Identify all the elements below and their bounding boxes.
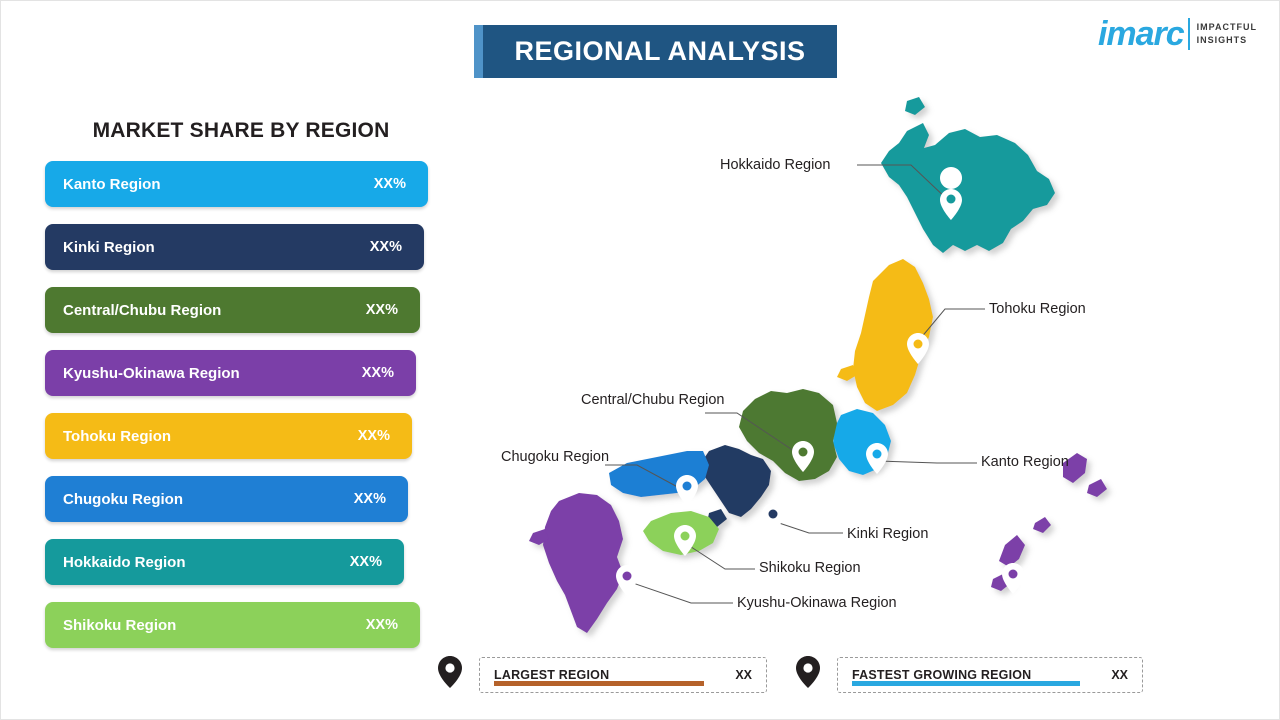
region-value: XX% [362, 365, 394, 381]
fastest-region-pin-icon [795, 655, 821, 689]
region-bar-tohoku[interactable]: Tohoku Region XX% [45, 413, 412, 459]
map-label-chugoku: Chugoku Region [501, 449, 609, 465]
fastest-region-value: XX [1111, 668, 1128, 682]
region-bar-kyushu-okinawa[interactable]: Kyushu-Okinawa Region XX% [45, 350, 416, 396]
brand-logo: imarc IMPACTFUL INSIGHTS [1098, 17, 1257, 51]
fastest-region-label: FASTEST GROWING REGION [852, 668, 1031, 682]
japan-map: Hokkaido Region Tohoku Region Central/Ch… [437, 93, 1267, 653]
region-label: Hokkaido Region [63, 554, 186, 571]
leader-kinki [773, 521, 843, 533]
map-label-central-chubu: Central/Chubu Region [581, 392, 724, 408]
region-bar-kanto[interactable]: Kanto Region XX% [45, 161, 428, 207]
slide-regional-analysis: REGIONAL ANALYSIS imarc IMPACTFUL INSIGH… [0, 0, 1280, 720]
map-region-okinawa-chain-3 [1033, 517, 1051, 533]
logo-tagline-line1: IMPACTFUL [1197, 21, 1257, 34]
leader-kanto [877, 461, 977, 463]
region-value: XX% [374, 176, 406, 192]
map-label-shikoku: Shikoku Region [759, 560, 861, 576]
largest-region-value: XX [735, 668, 752, 682]
map-region-kyushu[interactable] [543, 493, 623, 633]
region-label: Shikoku Region [63, 617, 176, 634]
pin-kyushu[interactable] [616, 565, 638, 596]
panel-heading: MARKET SHARE BY REGION [45, 119, 437, 143]
region-value: XX% [366, 617, 398, 633]
region-bar-kinki[interactable]: Kinki Region XX% [45, 224, 424, 270]
logo-tagline: IMPACTFUL INSIGHTS [1197, 21, 1257, 47]
pin-chugoku[interactable] [676, 475, 698, 506]
logo-divider [1188, 18, 1190, 50]
map-label-kanto: Kanto Region [981, 454, 1069, 470]
region-label: Kinki Region [63, 239, 155, 256]
pin-kinki[interactable] [762, 503, 784, 534]
map-label-kinki: Kinki Region [847, 526, 928, 542]
region-label: Central/Chubu Region [63, 302, 221, 319]
region-label: Tohoku Region [63, 428, 171, 445]
fastest-region-legend: FASTEST GROWING REGION XX [837, 657, 1143, 693]
region-value: XX% [370, 239, 402, 255]
region-label: Kanto Region [63, 176, 161, 193]
largest-region-label: LARGEST REGION [494, 668, 609, 682]
region-value: XX% [354, 491, 386, 507]
map-label-hokkaido: Hokkaido Region [720, 157, 830, 173]
logo-tagline-line2: INSIGHTS [1197, 34, 1257, 47]
leader-kyushu [627, 581, 733, 603]
footer-legends: LARGEST REGION XX FASTEST GROWING REGION… [437, 653, 1157, 697]
region-value: XX% [366, 302, 398, 318]
largest-region-pin-icon [437, 655, 463, 689]
region-value: XX% [358, 428, 390, 444]
region-label: Kyushu-Okinawa Region [63, 365, 240, 382]
page-title-banner: REGIONAL ANALYSIS [474, 25, 837, 78]
region-bar-hokkaido[interactable]: Hokkaido Region XX% [45, 539, 404, 585]
map-region-hokkaido[interactable] [881, 123, 1055, 253]
map-region-kinki[interactable] [701, 445, 771, 517]
map-region-hokkaido-islet [905, 97, 925, 115]
largest-region-legend: LARGEST REGION XX [479, 657, 767, 693]
logo-wordmark: imarc [1098, 17, 1184, 51]
page-title: REGIONAL ANALYSIS [514, 36, 805, 67]
map-region-okinawa-main[interactable] [999, 535, 1025, 567]
region-bar-central-chubu[interactable]: Central/Chubu Region XX% [45, 287, 420, 333]
pin-okinawa[interactable] [1002, 563, 1024, 594]
region-bar-chugoku[interactable]: Chugoku Region XX% [45, 476, 408, 522]
map-region-okinawa-chain-2 [1087, 479, 1107, 497]
map-label-tohoku: Tohoku Region [989, 301, 1086, 317]
region-label: Chugoku Region [63, 491, 183, 508]
map-label-kyushu-okinawa: Kyushu-Okinawa Region [737, 595, 897, 611]
region-value: XX% [350, 554, 382, 570]
region-bar-shikoku[interactable]: Shikoku Region XX% [45, 602, 420, 648]
market-share-panel: MARKET SHARE BY REGION Kanto Region XX% … [45, 119, 437, 665]
